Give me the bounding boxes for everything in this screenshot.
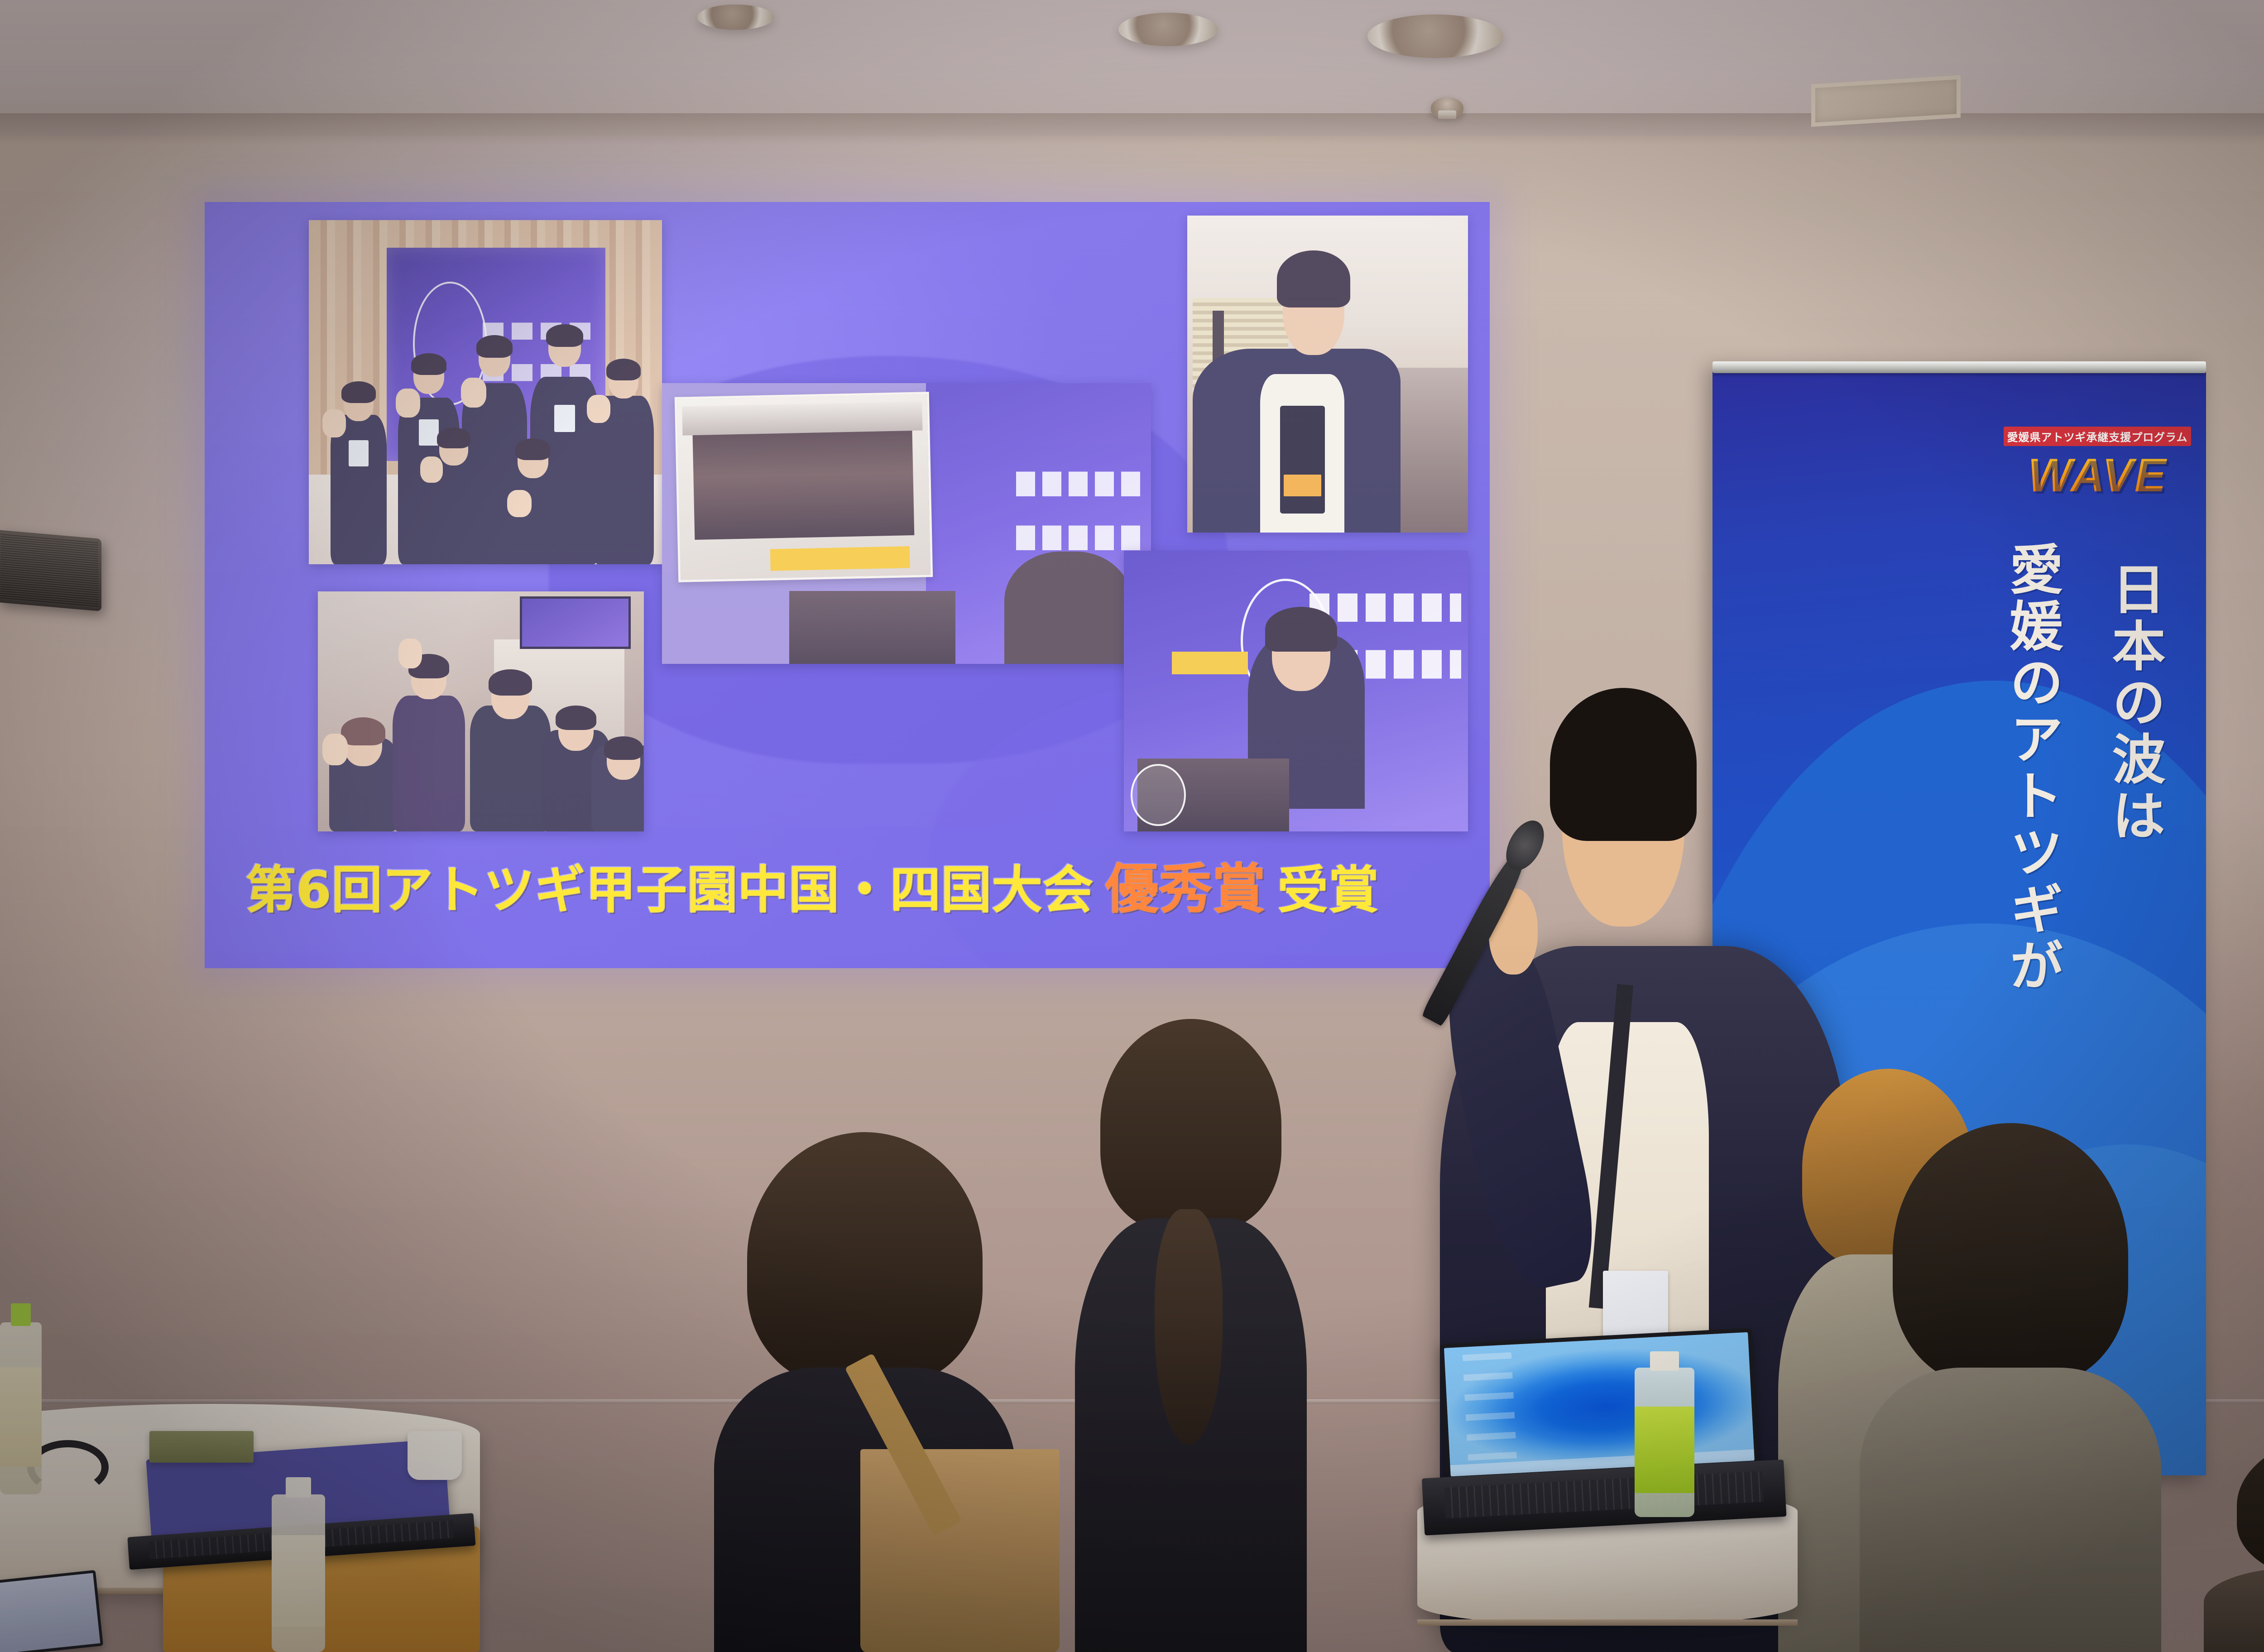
wave-logo: 愛媛県アトツギ承継支援プログラム WAVE bbox=[2004, 427, 2192, 503]
bottle-cap bbox=[11, 1303, 31, 1325]
banner-vertical-line-1: 日本の波は bbox=[2105, 562, 2163, 845]
projection-wash bbox=[309, 220, 662, 564]
wave-sub-label: 愛媛県アトツギ承継支援プログラム bbox=[2004, 427, 2192, 446]
presenter-glasses-icon bbox=[1566, 793, 1672, 841]
head-hair bbox=[2237, 1431, 2264, 1580]
projected-slide: 第6回アトツギ甲子園中国・四国大会 優秀賞 受賞 bbox=[205, 202, 1490, 968]
wall-speaker bbox=[0, 530, 101, 611]
banner-top-rail bbox=[1712, 361, 2206, 373]
ceiling-vent-icon bbox=[1118, 13, 1218, 46]
photo-content bbox=[1124, 551, 1468, 831]
audience-far-right bbox=[2237, 1431, 2264, 1652]
projection-wash bbox=[662, 383, 1151, 664]
table-edge bbox=[1417, 1619, 1798, 1626]
slide-caption: 第6回アトツギ甲子園中国・四国大会 優秀賞 受賞 bbox=[245, 862, 1379, 916]
ponytail bbox=[1155, 1209, 1223, 1445]
bottle-cap bbox=[286, 1477, 312, 1498]
bottle-label bbox=[272, 1535, 325, 1627]
banner-vertical-line-2: 愛媛のアトツギが bbox=[2003, 542, 2060, 995]
presenter-laptop bbox=[1439, 1328, 1761, 1534]
photo-content bbox=[309, 220, 662, 564]
bottle-label bbox=[1635, 1407, 1694, 1493]
bottle-label bbox=[0, 1367, 42, 1467]
slide-photo-pitch-presentation bbox=[662, 383, 1151, 664]
slide-photo-selfie-group bbox=[318, 591, 644, 831]
slide-photo-wave-tshirt bbox=[1187, 216, 1468, 533]
clear-water-bottle bbox=[272, 1494, 325, 1652]
audience-front-center bbox=[1100, 1019, 1281, 1652]
photo-content bbox=[318, 591, 644, 831]
audience-right-dark bbox=[1893, 1123, 2128, 1652]
tablet-device bbox=[0, 1570, 103, 1652]
green-tea-bottle bbox=[1635, 1368, 1694, 1517]
ceiling-vent-icon bbox=[697, 5, 774, 30]
photo-content bbox=[662, 383, 1151, 664]
ceiling-vent-icon bbox=[1367, 14, 1503, 58]
white-cup bbox=[408, 1431, 462, 1480]
caption-highlight-text: 優秀賞 bbox=[1105, 862, 1266, 916]
clear-water-bottle bbox=[0, 1322, 42, 1494]
photo-scene: 第6回アトツギ甲子園中国・四国大会 優秀賞 受賞 愛媛県アトツギ承継支援プログラ… bbox=[0, 0, 2264, 1652]
laptop-screen bbox=[1444, 1332, 1755, 1477]
slide-photo-podium-speech bbox=[1124, 551, 1468, 831]
photo-content bbox=[1187, 216, 1468, 533]
shoulders bbox=[1860, 1368, 2161, 1652]
head-hair bbox=[747, 1132, 983, 1386]
laptop-lid bbox=[1439, 1328, 1759, 1481]
bottle-cap bbox=[1650, 1351, 1679, 1371]
caption-tail-text: 受賞 bbox=[1277, 865, 1379, 916]
projection-wash bbox=[318, 591, 644, 831]
caption-main-text: 第6回アトツギ甲子園中国・四国大会 bbox=[245, 865, 1094, 916]
notebook bbox=[149, 1431, 254, 1463]
wave-wordmark: WAVE bbox=[2004, 449, 2192, 503]
head-hair bbox=[1893, 1123, 2128, 1386]
slide-photo-group-stage bbox=[309, 220, 662, 564]
projection-wash bbox=[1124, 551, 1468, 831]
smoke-detector-icon bbox=[1431, 97, 1463, 118]
head-hair bbox=[1100, 1019, 1281, 1232]
tote-bag bbox=[860, 1449, 1060, 1652]
projection-wash bbox=[1187, 216, 1468, 533]
